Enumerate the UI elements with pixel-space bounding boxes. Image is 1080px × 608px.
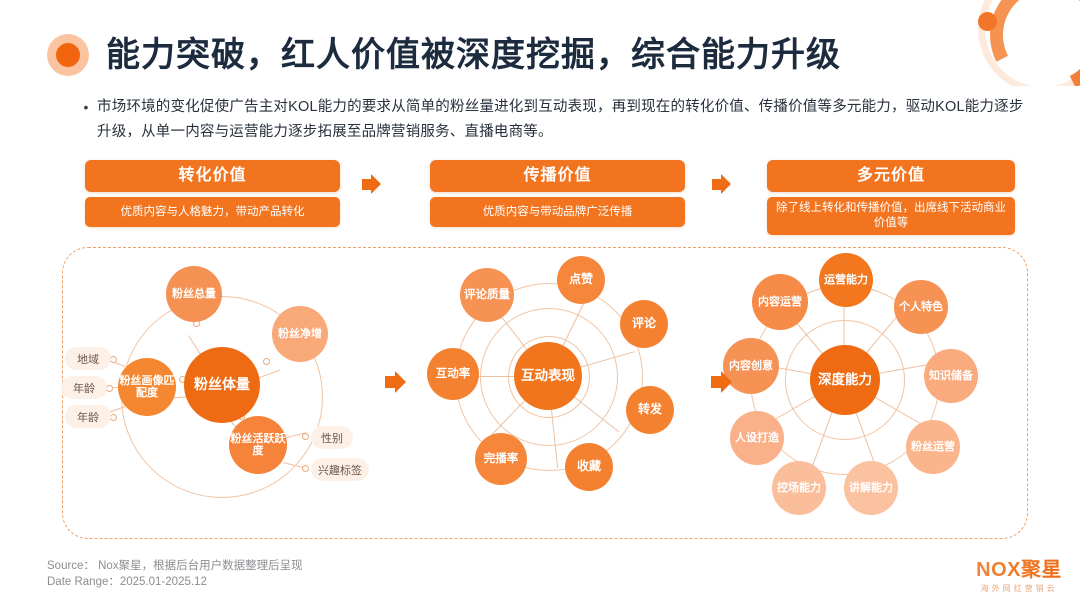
connector-tick [302, 433, 309, 440]
value-stage-1-title: 转化价值 [85, 160, 340, 192]
cluster-arrow-1-icon [385, 371, 407, 395]
stage-arrow-2-icon [712, 174, 732, 196]
connector-tick [106, 385, 113, 392]
page-title-row: 能力突破，红人价值被深度挖掘，综合能力升级 [47, 34, 841, 76]
cluster-2-node-likes[interactable]: 点赞 [557, 256, 605, 304]
cluster-1-center-node[interactable]: 粉丝体量 [184, 347, 260, 423]
slide-root: 能力突破，红人价值被深度挖掘，综合能力升级 • 市场环境的变化促使广告主对KOL… [0, 0, 1080, 608]
connector-tick [110, 356, 117, 363]
cluster-3-node-persona[interactable]: 人设打造 [730, 411, 784, 465]
cluster-1-pill-interest-tag[interactable]: 兴趣标签 [311, 458, 369, 481]
cluster-3-node-content-operation[interactable]: 内容运营 [752, 274, 808, 330]
corner-decoration-graphic [976, 0, 1080, 86]
decorative-arc [976, 0, 1080, 86]
cluster-1-node-fan-total[interactable]: 粉丝总量 [166, 266, 222, 322]
cluster-2-node-favorites[interactable]: 收藏 [565, 443, 613, 491]
cluster-2-center-node[interactable]: 互动表现 [514, 342, 582, 410]
subtitle-block: • 市场环境的变化促使广告主对KOL能力的要求从简单的粉丝量进化到互动表现，再到… [75, 95, 1030, 145]
cluster-depth-capability: 深度能力 运营能力 个人特色 知识储备 粉丝运营 讲解能力 控场能力 人设打造 … [718, 248, 1018, 538]
cluster-1-pill-region[interactable]: 地域 [65, 347, 111, 370]
logo-wordmark: NOX聚星 [976, 553, 1062, 582]
brand-logo: NOX聚星 海外网红营销云 [976, 553, 1062, 594]
cluster-3-center-node[interactable]: 深度能力 [810, 345, 880, 415]
decorative-outer-ring [978, 0, 1080, 86]
page-title: 能力突破，红人价值被深度挖掘，综合能力升级 [106, 38, 841, 72]
cluster-fan-volume: 粉丝体量 粉丝总量 粉丝净增 粉丝活跃跃度 粉丝画像匹配度 地域 年龄 年龄 性… [83, 248, 423, 538]
cluster-2-node-interaction-rate[interactable]: 互动率 [427, 348, 479, 400]
value-stage-2-title: 传播价值 [430, 160, 685, 192]
cluster-2-node-shares[interactable]: 转发 [626, 386, 674, 434]
cluster-1-pill-age-2[interactable]: 年龄 [65, 405, 111, 428]
cluster-3-node-operation[interactable]: 运营能力 [819, 253, 873, 307]
value-stage-3-title: 多元价值 [767, 160, 1015, 192]
cluster-3-node-presentation[interactable]: 讲解能力 [844, 461, 898, 515]
value-stage-2-desc: 优质内容与带动品牌广泛传播 [430, 197, 685, 227]
value-stage-1: 转化价值 优质内容与人格魅力，带动产品转化 [85, 160, 340, 227]
cluster-1-node-fan-active[interactable]: 粉丝活跃跃度 [229, 416, 287, 474]
subtitle-text: 市场环境的变化促使广告主对KOL能力的要求从简单的粉丝量进化到互动表现，再到现在… [97, 95, 1030, 145]
cluster-1-pill-gender[interactable]: 性别 [311, 426, 353, 449]
cluster-1-pill-age-1[interactable]: 年龄 [61, 376, 107, 399]
cluster-3-node-fan-operation[interactable]: 粉丝运营 [906, 420, 960, 474]
cluster-interaction: 互动表现 点赞 评论 转发 收藏 完播率 互动率 评论质量 [413, 248, 703, 538]
cluster-2-node-comment-quality[interactable]: 评论质量 [460, 268, 514, 322]
value-stage-2: 传播价值 优质内容与带动品牌广泛传播 [430, 160, 685, 227]
connector-tick [302, 465, 309, 472]
decorative-dot-large [978, 12, 997, 31]
value-stage-headers: 转化价值 优质内容与人格魅力，带动产品转化 传播价值 优质内容与带动品牌广泛传播… [0, 160, 1080, 235]
cluster-3-node-personal-style[interactable]: 个人特色 [894, 280, 948, 334]
cluster-arrow-2-icon [711, 371, 733, 395]
connector-tick [263, 358, 270, 365]
cluster-3-node-knowledge[interactable]: 知识储备 [924, 349, 978, 403]
footer-date-range: Date Range：2025.01-2025.12 [47, 574, 303, 590]
footer-source: Source： Nox聚星，根据后台用户数据整理后呈现 [47, 558, 303, 574]
value-stage-1-desc: 优质内容与人格魅力，带动产品转化 [85, 197, 340, 227]
cluster-3-node-stage-control[interactable]: 控场能力 [772, 461, 826, 515]
cluster-1-node-fan-growth[interactable]: 粉丝净增 [272, 306, 328, 362]
connector-tick [110, 414, 117, 421]
value-stage-3: 多元价值 除了线上转化和传播价值，出席线下活动商业价值等 [767, 160, 1015, 235]
cluster-2-node-completion-rate[interactable]: 完播率 [475, 433, 527, 485]
bullet-icon: • [75, 95, 97, 145]
footer-notes: Source： Nox聚星，根据后台用户数据整理后呈现 Date Range：2… [47, 558, 303, 590]
value-stage-3-desc: 除了线上转化和传播价值，出席线下活动商业价值等 [767, 197, 1015, 235]
cluster-2-node-comments[interactable]: 评论 [620, 300, 668, 348]
stage-arrow-1-icon [362, 174, 382, 196]
cluster-1-node-fan-profile-match[interactable]: 粉丝画像匹配度 [118, 358, 176, 416]
capability-diagram-panel: 粉丝体量 粉丝总量 粉丝净增 粉丝活跃跃度 粉丝画像匹配度 地域 年龄 年龄 性… [62, 247, 1028, 539]
title-bullet-icon [47, 34, 89, 76]
logo-tagline: 海外网红营销云 [976, 583, 1062, 594]
